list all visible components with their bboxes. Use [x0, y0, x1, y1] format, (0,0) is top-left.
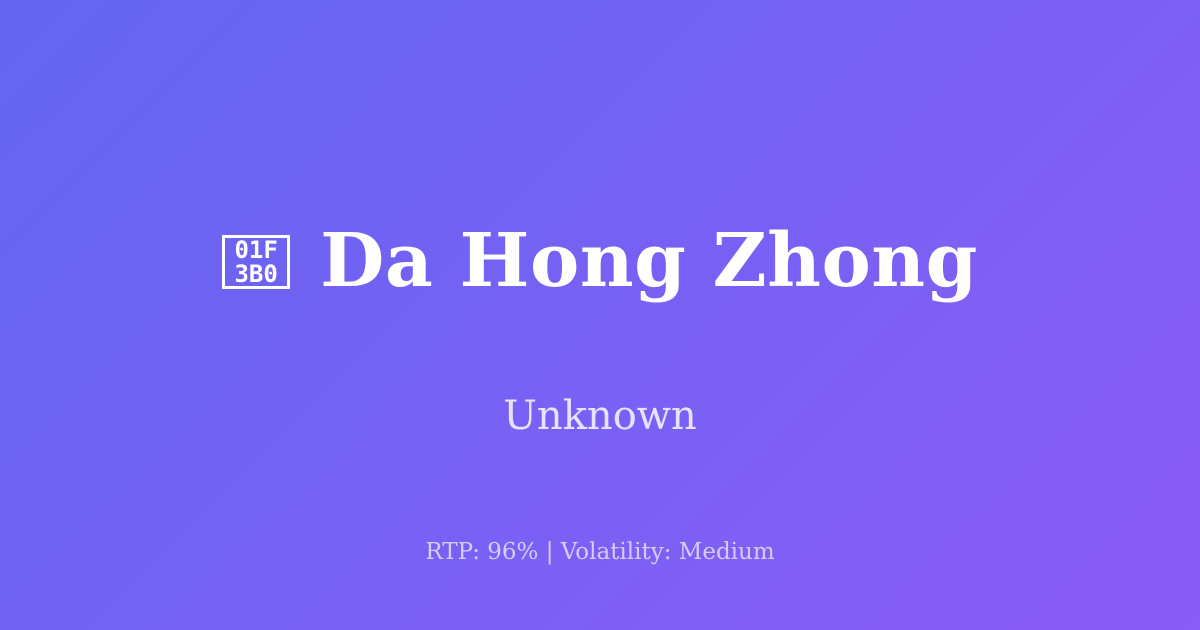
- og-share-card: 01F 3B0 Da Hong Zhong Unknown RTP: 96% |…: [0, 0, 1200, 630]
- tofu-hex-bottom: 3B0: [234, 262, 277, 286]
- tofu-hex-top: 01F: [234, 238, 277, 262]
- title-row: 01F 3B0 Da Hong Zhong: [0, 174, 1200, 351]
- game-provider-subtitle: Unknown: [503, 392, 697, 440]
- page-title: Da Hong Zhong: [320, 223, 978, 301]
- game-meta-line: RTP: 96% | Volatility: Medium: [0, 538, 1200, 568]
- slot-machine-icon: 01F 3B0: [222, 235, 290, 289]
